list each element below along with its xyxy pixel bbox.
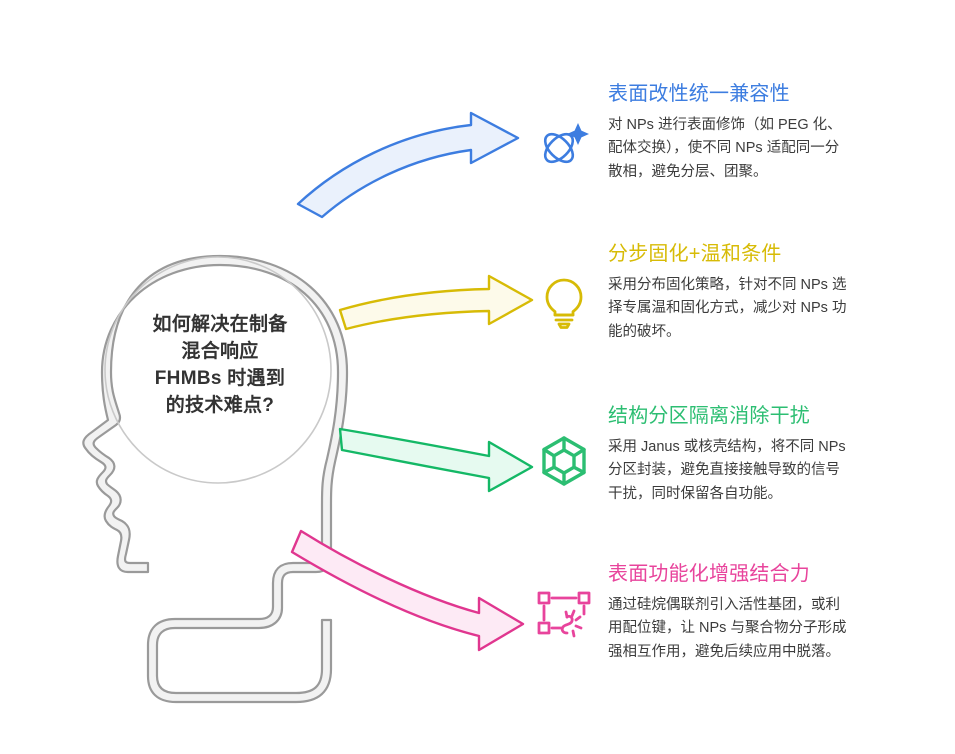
desc-line-1: 采用分布固化策略，针对不同 NPs 选	[608, 274, 900, 297]
desc-line-2: 用配位键，让 NPs 与聚合物分子形成	[608, 617, 900, 640]
desc-line-2: 择专属温和固化方式，减少对 NPs 功	[608, 297, 900, 320]
selection-frame-cursor-icon	[536, 590, 592, 646]
lightbulb-icon	[536, 274, 592, 330]
central-question: 如何解决在制备 混合响应 FHMBs 时遇到 的技术难点?	[108, 312, 332, 420]
item-title: 结构分区隔离消除干扰	[608, 404, 936, 429]
desc-line-3: 散相，避免分层、团聚。	[608, 161, 900, 184]
question-line-4: 的技术难点?	[108, 393, 332, 420]
item-stepwise-curing: 分步固化+温和条件 采用分布固化策略，针对不同 NPs 选 择专属温和固化方式，…	[536, 242, 936, 344]
item-body: 结构分区隔离消除干扰 采用 Janus 或核壳结构，将不同 NPs 分区封装，避…	[608, 404, 936, 506]
desc-line-2: 分区封装，避免直接接触导致的信号	[608, 459, 900, 482]
item-body: 分步固化+温和条件 采用分布固化策略，针对不同 NPs 选 择专属温和固化方式，…	[608, 242, 936, 344]
atom-sparkle-icon	[536, 117, 592, 173]
item-description: 对 NPs 进行表面修饰（如 PEG 化、 配体交换），使不同 NPs 适配同一…	[608, 114, 900, 184]
question-line-3: FHMBs 时遇到	[108, 366, 332, 393]
desc-line-1: 采用 Janus 或核壳结构，将不同 NPs	[608, 436, 900, 459]
item-title: 表面功能化增强结合力	[608, 562, 936, 587]
item-body: 表面改性统一兼容性 对 NPs 进行表面修饰（如 PEG 化、 配体交换），使不…	[608, 82, 936, 184]
question-line-1: 如何解决在制备	[108, 312, 332, 339]
arrow-pink	[292, 531, 523, 650]
desc-line-2: 配体交换），使不同 NPs 适配同一分	[608, 137, 900, 160]
arrow-yellow	[340, 276, 532, 329]
desc-line-1: 对 NPs 进行表面修饰（如 PEG 化、	[608, 114, 900, 137]
question-line-2: 混合响应	[108, 339, 332, 366]
item-title: 分步固化+温和条件	[608, 242, 936, 267]
infographic-canvas: 如何解决在制备 混合响应 FHMBs 时遇到 的技术难点? 表面改性统一兼容性 …	[0, 0, 955, 754]
item-body: 表面功能化增强结合力 通过硅烷偶联剂引入活性基团，或利 用配位键，让 NPs 与…	[608, 562, 936, 664]
item-description: 采用分布固化策略，针对不同 NPs 选 择专属温和固化方式，减少对 NPs 功 …	[608, 274, 900, 344]
item-description: 采用 Janus 或核壳结构，将不同 NPs 分区封装，避免直接接触导致的信号 …	[608, 436, 900, 506]
item-title: 表面改性统一兼容性	[608, 82, 936, 107]
desc-line-1: 通过硅烷偶联剂引入活性基团，或利	[608, 594, 900, 617]
item-surface-modification: 表面改性统一兼容性 对 NPs 进行表面修饰（如 PEG 化、 配体交换），使不…	[536, 82, 936, 184]
molecule-cage-icon	[536, 434, 592, 490]
item-surface-functionalization: 表面功能化增强结合力 通过硅烷偶联剂引入活性基团，或利 用配位键，让 NPs 与…	[536, 562, 936, 664]
item-structural-partitioning: 结构分区隔离消除干扰 采用 Janus 或核壳结构，将不同 NPs 分区封装，避…	[536, 404, 936, 506]
arrow-blue	[298, 113, 518, 217]
desc-line-3: 能的破坏。	[608, 321, 900, 344]
arrow-green	[340, 429, 532, 491]
desc-line-3: 干扰，同时保留各自功能。	[608, 483, 900, 506]
desc-line-3: 强相互作用，避免后续应用中脱落。	[608, 641, 900, 664]
item-description: 通过硅烷偶联剂引入活性基团，或利 用配位键，让 NPs 与聚合物分子形成 强相互…	[608, 594, 900, 664]
